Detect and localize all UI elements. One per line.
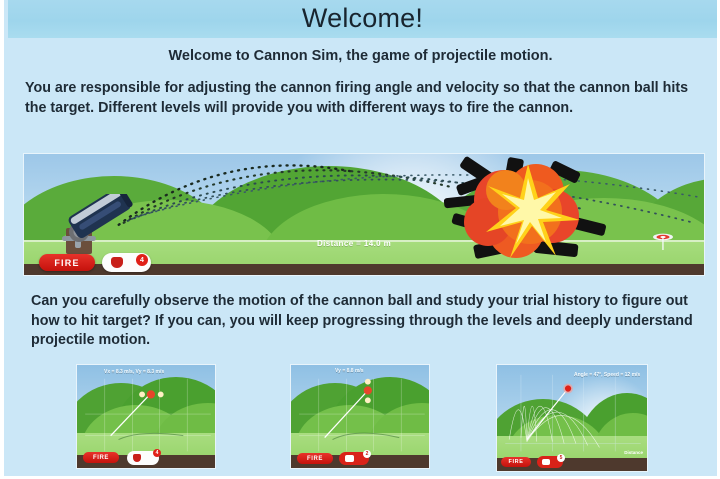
thumbnail-label: Vx = 8.3 m/s, Vy = 8.3 m/s bbox=[104, 369, 164, 375]
ammo-indicator[interactable]: 5 bbox=[537, 456, 563, 468]
thumbnail-level-3[interactable]: Angle = 47°, Speed = 12 m/s Distance FIR… bbox=[496, 364, 648, 472]
description-paragraph-1: You are responsible for adjusting the ca… bbox=[25, 79, 705, 118]
cannonball-icon bbox=[542, 459, 550, 465]
ammo-count-badge: 4 bbox=[153, 449, 161, 457]
cannonball-icon bbox=[133, 454, 141, 462]
fire-button[interactable]: FIRE bbox=[297, 453, 333, 464]
page-title: Welcome! bbox=[302, 5, 423, 34]
cannonball-icon bbox=[111, 257, 123, 268]
description-paragraph-2: Can you carefully observe the motion of … bbox=[31, 292, 705, 351]
ammo-indicator[interactable]: 4 bbox=[127, 451, 159, 465]
thumbnail-label: Angle = 47°, Speed = 12 m/s bbox=[574, 372, 640, 378]
target-icon bbox=[652, 232, 674, 250]
explosion-icon bbox=[444, 156, 644, 272]
thumbnail-level-1[interactable]: Vx = 8.3 m/s, Vy = 8.3 m/s FIRE 4 bbox=[76, 364, 216, 469]
ammo-count-badge: 5 bbox=[557, 454, 565, 462]
fire-button[interactable]: FIRE bbox=[39, 254, 95, 271]
thumbnail-level-2[interactable]: Vy = 8.8 m/s FIRE 2 bbox=[290, 364, 430, 469]
distance-readout: Distance = 14.0 m bbox=[317, 239, 391, 248]
fire-button[interactable]: FIRE bbox=[83, 452, 119, 463]
ammo-count-badge: 4 bbox=[136, 254, 148, 266]
thumbnail-label: Vy = 8.8 m/s bbox=[335, 368, 364, 374]
ammo-indicator[interactable]: 4 bbox=[102, 253, 151, 272]
ammo-indicator[interactable]: 2 bbox=[339, 452, 369, 465]
trajectory-fan bbox=[497, 365, 647, 471]
welcome-page: Welcome! Welcome to Cannon Sim, the game… bbox=[0, 0, 720, 479]
thumbnail-row: Vx = 8.3 m/s, Vy = 8.3 m/s FIRE 4 bbox=[4, 364, 717, 472]
fire-button[interactable]: FIRE bbox=[501, 457, 531, 467]
ammo-count-badge: 2 bbox=[363, 450, 371, 458]
intro-line: Welcome to Cannon Sim, the game of proje… bbox=[4, 48, 717, 64]
simulation-preview-image: Distance = 14.0 m FIRE 4 bbox=[23, 153, 705, 276]
distance-readout: Distance bbox=[624, 450, 643, 455]
page-header: Welcome! bbox=[8, 0, 717, 38]
cannonball-icon bbox=[345, 455, 354, 462]
